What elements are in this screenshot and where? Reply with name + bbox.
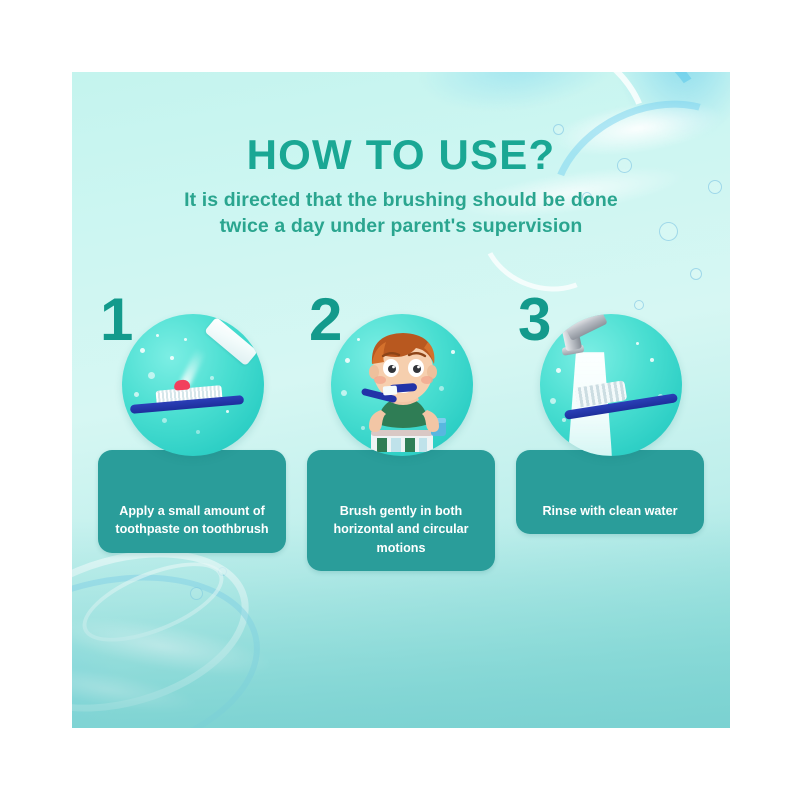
bubble-icon [190, 587, 203, 600]
step-number-3: 3 [518, 290, 551, 350]
step-number-1: 1 [100, 290, 133, 350]
step-caption-plate-1: Apply a small amount of toothpaste on to… [98, 450, 286, 553]
step-illustration-1 [122, 314, 264, 456]
bubble-icon [634, 300, 644, 310]
water-ripple-icon [72, 546, 234, 658]
header: HOW TO USE? It is directed that the brus… [72, 134, 730, 239]
faucet-icon [564, 314, 607, 341]
step-caption-3: Rinse with clean water [542, 504, 677, 518]
page-subtitle: It is directed that the brushing should … [72, 188, 730, 239]
subtitle-line-2: twice a day under parent's supervision [220, 215, 583, 237]
toothpaste-tube-icon [204, 317, 258, 366]
boy-brushing-svg [331, 314, 473, 456]
water-ripple-icon [72, 523, 268, 728]
step-illustration-2 [331, 314, 473, 456]
paste-dot [174, 379, 191, 390]
step-number-2: 2 [309, 290, 342, 350]
step-illustration-3 [540, 314, 682, 456]
page-title: HOW TO USE? [72, 134, 730, 176]
step-caption-plate-2: Brush gently in both horizontal and circ… [307, 450, 495, 571]
subtitle-line-1: It is directed that the brushing should … [184, 189, 618, 211]
bubble-icon [218, 567, 227, 576]
poster-canvas: HOW TO USE? It is directed that the brus… [72, 72, 730, 728]
step-caption-plate-3: Rinse with clean water [516, 450, 704, 534]
bubble-icon [690, 268, 702, 280]
water-ripple-icon [72, 549, 277, 728]
step-caption-2: Brush gently in both horizontal and circ… [333, 504, 468, 555]
toothpaste-cap-icon [248, 322, 264, 339]
step-caption-1: Apply a small amount of toothpaste on to… [115, 504, 268, 536]
